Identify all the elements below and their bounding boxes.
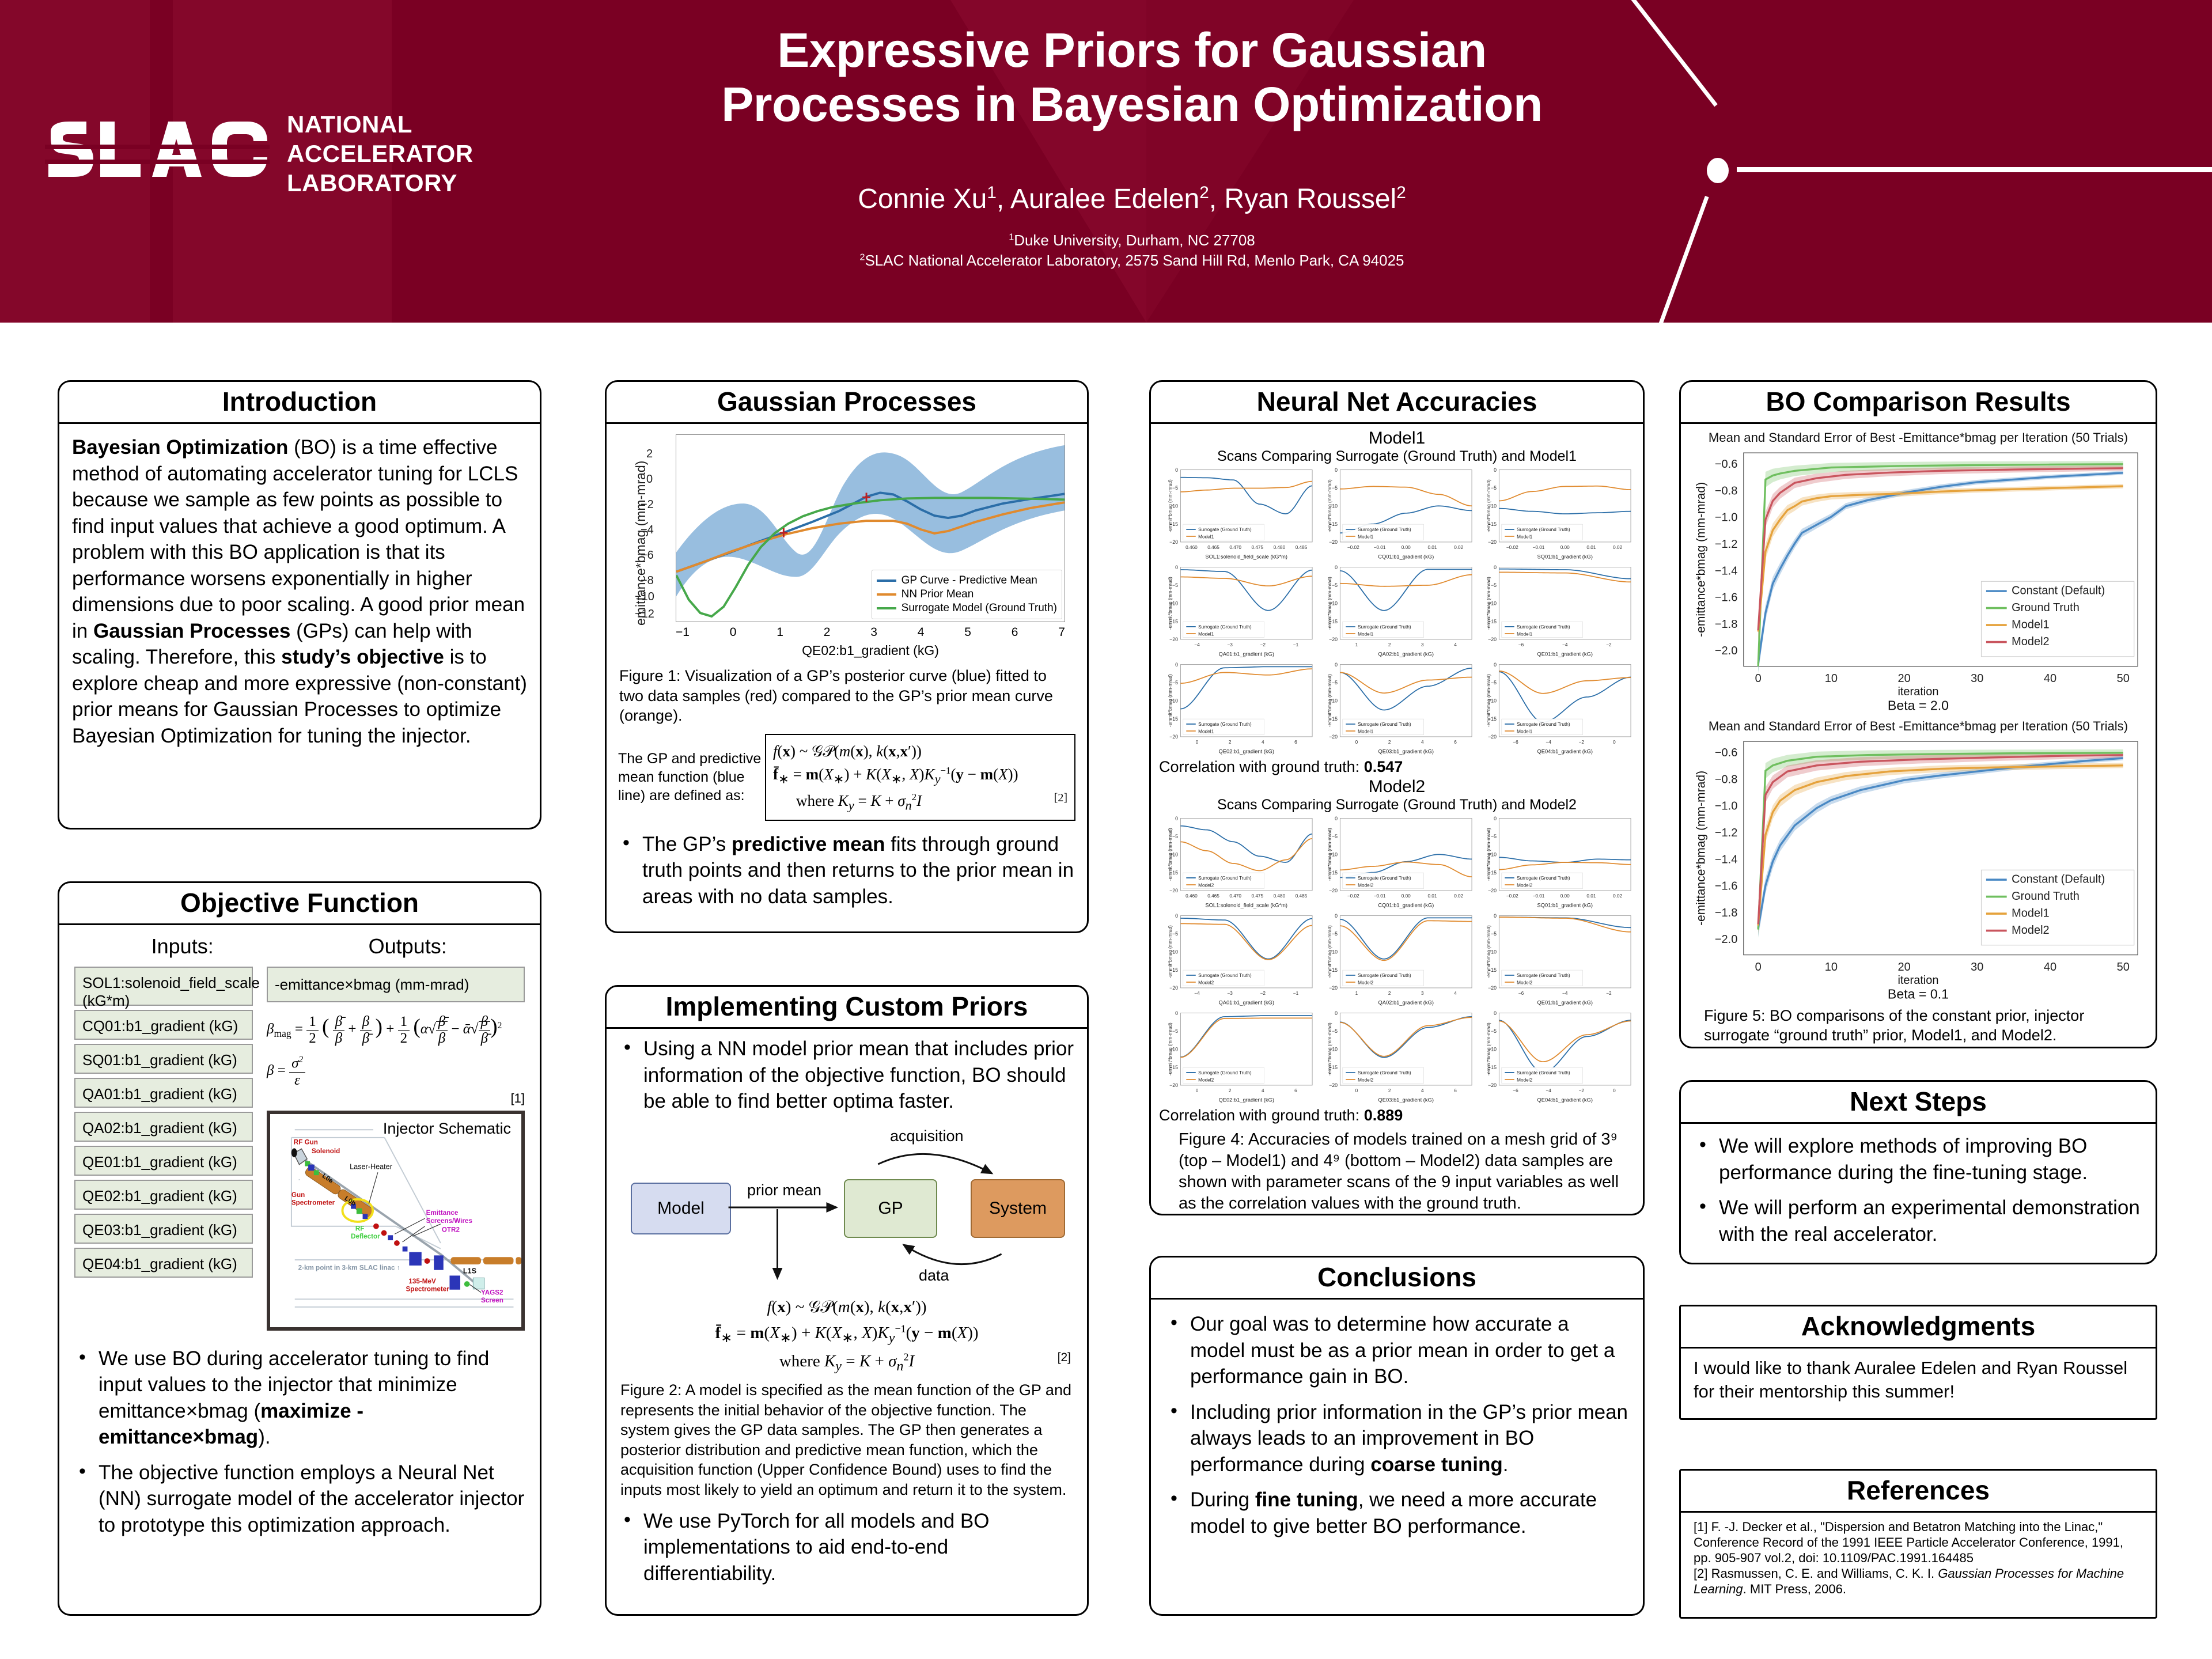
svg-text:Model1: Model1 xyxy=(1517,632,1532,637)
svg-text:Laser-Heater: Laser-Heater xyxy=(350,1162,392,1171)
cp-eq-line-3: where Ky = K + σn2I[2] xyxy=(619,1349,1074,1377)
svg-text:Ground Truth: Ground Truth xyxy=(2012,890,2080,903)
svg-text:-emmit*bmag (mm-mrad): -emmit*bmag (mm-mrad) xyxy=(1327,1022,1332,1075)
bullet-text: We will explore methods of improving BO … xyxy=(1719,1135,2088,1184)
svg-text:Model2: Model2 xyxy=(1198,882,1214,888)
corr-value: 0.889 xyxy=(1364,1107,1403,1124)
next-steps-bullets: We will explore methods of improving BO … xyxy=(1695,1133,2142,1247)
bullet-text: Our goal was to determine how accurate a… xyxy=(1190,1313,1615,1388)
svg-text:−1.4: −1.4 xyxy=(1715,853,1737,866)
fig1-xtick: 5 xyxy=(964,626,971,639)
model2-correlation: Correlation with ground truth: 0.889 xyxy=(1159,1107,1635,1124)
svg-text:Surrogate (Ground Truth): Surrogate (Ground Truth) xyxy=(1358,624,1411,630)
fig1-ytick: −10 xyxy=(635,590,654,604)
fig1-ytick: −6 xyxy=(641,549,654,562)
svg-text:−6: −6 xyxy=(1518,642,1524,647)
svg-text:0.485: 0.485 xyxy=(1296,893,1308,899)
svg-text:Model2: Model2 xyxy=(1358,882,1373,888)
svg-text:−2: −2 xyxy=(1579,740,1585,745)
svg-text:−4: −4 xyxy=(1546,1088,1552,1093)
svg-text:4: 4 xyxy=(1421,1088,1424,1093)
figure-5-caption: Figure 5: BO comparisons of the constant… xyxy=(1704,1006,2149,1046)
scan-subplot: 0−5−10−15−200.4600.4650.4700.4750.4800.4… xyxy=(1159,815,1316,910)
svg-text:−1.8: −1.8 xyxy=(1715,618,1737,631)
header-diagonal-line-bottom xyxy=(1654,196,1709,323)
svg-text:40: 40 xyxy=(2044,961,2056,974)
logo-line-national: NATIONAL xyxy=(287,109,474,139)
fig1-xtick: 4 xyxy=(918,626,925,639)
injector-schematic: Injector Schematic xyxy=(267,1111,525,1331)
svg-text:10: 10 xyxy=(1825,961,1838,974)
svg-text:0.01: 0.01 xyxy=(1427,545,1437,550)
svg-text:6: 6 xyxy=(1454,740,1457,745)
svg-text:−20: −20 xyxy=(1488,637,1497,642)
svg-text:0: 0 xyxy=(1355,1088,1358,1093)
svg-text:−0.6: −0.6 xyxy=(1715,747,1737,759)
svg-text:Model2: Model2 xyxy=(2012,635,2050,648)
legend-item: NN Prior Mean xyxy=(877,588,1057,601)
svg-text:Constant (Default): Constant (Default) xyxy=(2012,873,2105,885)
svg-text:Model1: Model1 xyxy=(1358,729,1373,734)
fig1-xtick: −1 xyxy=(676,626,690,639)
svg-text:20: 20 xyxy=(1897,961,1910,974)
model1-correlation: Correlation with ground truth: 0.547 xyxy=(1159,758,1635,776)
scan-subplot: 0−5−10−15−20−6−4−20 Surrogate (Ground Tr… xyxy=(1478,1009,1635,1104)
svg-text:1: 1 xyxy=(1355,991,1358,996)
svg-text:0.02: 0.02 xyxy=(1613,893,1622,899)
svg-text:0.00: 0.00 xyxy=(1401,893,1410,899)
output-row: -emittance×bmag (mm-mrad) xyxy=(267,967,525,1002)
svg-text:-emmit*bmag (mm-mrad): -emmit*bmag (mm-mrad) xyxy=(1168,828,1173,881)
svg-text:4: 4 xyxy=(1421,740,1424,745)
fig1-ytick: −8 xyxy=(641,574,654,588)
scan-subplot: 0−5−10−15−200246 Surrogate (Ground Truth… xyxy=(1319,661,1476,756)
fig1-x-axis-label: QE02:b1_gradient (kG) xyxy=(676,643,1065,658)
svg-text:Model2: Model2 xyxy=(1517,1077,1532,1082)
header-dot xyxy=(1707,158,1729,183)
svg-text:0: 0 xyxy=(1335,467,1338,473)
objective-bullets: We use BO during accelerator tuning to f… xyxy=(74,1346,525,1539)
svg-text:50: 50 xyxy=(2117,961,2130,974)
panel-next-steps: Next Steps We will explore methods of im… xyxy=(1679,1080,2157,1264)
svg-text:−6: −6 xyxy=(1518,991,1524,996)
figure-1-gp-chart: emittance*bmag (mm-mrad) 2 0 −2 −4 xyxy=(618,430,1075,660)
bullet-bold: coarse tuning xyxy=(1370,1453,1502,1476)
svg-text:-emmit*bmag (mm-mrad): -emmit*bmag (mm-mrad) xyxy=(1486,925,1491,978)
fig1-ytick: −4 xyxy=(641,524,654,537)
slac-logo-wordmark: NATIONAL ACCELERATOR LABORATORY xyxy=(287,109,474,198)
svg-text:Model1: Model1 xyxy=(1358,535,1373,540)
svg-text:QE02:b1_gradient (kG): QE02:b1_gradient (kG) xyxy=(1218,749,1274,755)
scan-subplot: 0−5−10−15−20−0.02−0.010.000.010.02 Surro… xyxy=(1478,815,1635,910)
svg-text:4: 4 xyxy=(1454,642,1457,647)
svg-text:−20: −20 xyxy=(1488,985,1497,991)
svg-text:−2: −2 xyxy=(1260,642,1266,647)
schematic-title: Injector Schematic xyxy=(383,1120,511,1138)
next-steps-title: Next Steps xyxy=(1681,1082,2156,1124)
svg-text:−4: −4 xyxy=(1194,642,1200,647)
inputs-header: Inputs: xyxy=(74,934,290,959)
svg-text:−5: −5 xyxy=(1332,834,1338,839)
figure-5-chart-beta2: Mean and Standard Error of Best -Emittan… xyxy=(1688,429,2149,714)
svg-text:QE04:b1_gradient (kG): QE04:b1_gradient (kG) xyxy=(1537,1097,1593,1103)
list-item: We will explore methods of improving BO … xyxy=(1695,1133,2142,1185)
logo-line-laboratory: LABORATORY xyxy=(287,168,474,198)
scan-subplot: 0−5−10−15−200246 Surrogate (Ground Truth… xyxy=(1159,1009,1316,1104)
svg-text:Model1: Model1 xyxy=(1517,535,1532,540)
svg-text:−5: −5 xyxy=(1172,486,1178,491)
scan-subplot: 0−5−10−15−20−0.02−0.010.000.010.02 Surro… xyxy=(1319,466,1476,561)
panel-gaussian-processes: Gaussian Processes emittance*bmag (mm-mr… xyxy=(605,380,1089,933)
scan-subplot: 0−5−10−15−200.4600.4650.4700.4750.4800.4… xyxy=(1159,466,1316,561)
bullet-text: The objective function employs a Neural … xyxy=(99,1461,524,1536)
svg-text:−0.01: −0.01 xyxy=(1533,545,1545,550)
svg-text:0.465: 0.465 xyxy=(1207,893,1219,899)
bullet-bold: fine tuning xyxy=(1255,1488,1358,1511)
svg-text:−20: −20 xyxy=(1169,734,1178,740)
svg-text:RF Gun: RF Gun xyxy=(294,1138,318,1146)
svg-text:Screen: Screen xyxy=(481,1297,503,1304)
list-item: Using a NN model prior mean that include… xyxy=(619,1036,1074,1115)
svg-text:2: 2 xyxy=(1388,740,1391,745)
slac-logo: NATIONAL ACCELERATOR LABORATORY xyxy=(45,109,474,198)
bullet-tail: ). xyxy=(258,1426,270,1448)
svg-text:2: 2 xyxy=(1388,991,1391,996)
svg-text:OTR2: OTR2 xyxy=(442,1226,460,1233)
svg-text:Surrogate (Ground Truth): Surrogate (Ground Truth) xyxy=(1198,528,1252,533)
svg-text:−4: −4 xyxy=(1562,991,1568,996)
fig1-ytick: −12 xyxy=(635,608,654,621)
svg-text:-emmit*bmag (mm-mrad): -emmit*bmag (mm-mrad) xyxy=(1486,674,1491,727)
svg-text:0.01: 0.01 xyxy=(1587,545,1596,550)
svg-text:6: 6 xyxy=(1294,740,1297,745)
svg-text:−20: −20 xyxy=(1329,637,1338,642)
svg-text:Screens/Wires: Screens/Wires xyxy=(426,1217,473,1225)
model2-scan-grid: 0−5−10−15−200.4600.4650.4700.4750.4800.4… xyxy=(1159,815,1635,1104)
svg-text:4: 4 xyxy=(1262,740,1264,745)
legend-label: GP Curve - Predictive Mean xyxy=(902,574,1037,587)
svg-text:Surrogate (Ground Truth): Surrogate (Ground Truth) xyxy=(1358,722,1411,727)
svg-text:−0.02: −0.02 xyxy=(1506,545,1518,550)
bullet-text: We will perform an experimental demonstr… xyxy=(1719,1196,2140,1245)
cp-eq-ref: [2] xyxy=(1058,1349,1071,1368)
svg-text:−5: −5 xyxy=(1491,582,1497,588)
custom-priors-equations: f(x) ~ 𝒢𝒫(m(x), k(x,x′)) f̄∗ = m(X∗) + K… xyxy=(619,1294,1074,1377)
bullet-text: The GP’s xyxy=(642,833,732,855)
fig1-xtick: 6 xyxy=(1012,626,1018,639)
svg-text:QE01:b1_gradient (kG): QE01:b1_gradient (kG) xyxy=(1537,999,1593,1005)
scan-subplot: 0−5−10−15−200246 Surrogate (Ground Truth… xyxy=(1319,1009,1476,1104)
figure-2-caption: Figure 2: A model is specified as the me… xyxy=(620,1380,1073,1499)
svg-text:QA01:b1_gradient (kG): QA01:b1_gradient (kG) xyxy=(1218,999,1274,1005)
svg-text:2: 2 xyxy=(1229,1088,1232,1093)
svg-text:-emittance*bmag (mm-mrad): -emittance*bmag (mm-mrad) xyxy=(1694,482,1707,637)
svg-text:−1.2: −1.2 xyxy=(1715,538,1737,551)
legend-label: Surrogate Model (Ground Truth) xyxy=(902,602,1057,615)
svg-text:0.01: 0.01 xyxy=(1587,893,1596,899)
svg-text:SOL1:solenoid_field_scale (kG*: SOL1:solenoid_field_scale (kG*m) xyxy=(1205,554,1287,560)
svg-text:−1: −1 xyxy=(1293,642,1299,647)
input-label: QE04:b1_gradient (kG) xyxy=(82,1255,237,1272)
legend-swatch xyxy=(877,607,896,609)
svg-text:−5: −5 xyxy=(1172,834,1178,839)
svg-text:-emmit*bmag (mm-mrad): -emmit*bmag (mm-mrad) xyxy=(1486,577,1491,630)
affiliation-2: 2SLAC National Accelerator Laboratory, 2… xyxy=(605,251,1659,271)
scan-subplot: 0−5−10−15−20−0.02−0.010.000.010.02 Surro… xyxy=(1478,466,1635,561)
svg-text:-emmit*bmag (mm-mrad): -emmit*bmag (mm-mrad) xyxy=(1168,1022,1173,1075)
svg-text:−5: −5 xyxy=(1332,486,1338,491)
scan-subplot: 0−5−10−15−201234 Surrogate (Ground Truth… xyxy=(1319,912,1476,1007)
svg-text:−0.02: −0.02 xyxy=(1506,893,1518,899)
scan-subplot: 0−5−10−15−20−4−3−2−1 Surrogate (Ground T… xyxy=(1159,563,1316,658)
introduction-title: Introduction xyxy=(59,382,540,424)
svg-text:Surrogate (Ground Truth): Surrogate (Ground Truth) xyxy=(1517,624,1570,630)
svg-text:−20: −20 xyxy=(1169,540,1178,546)
figure-5-chart-beta01: Mean and Standard Error of Best -Emittan… xyxy=(1688,717,2149,1002)
panel-conclusions: Conclusions Our goal was to determine ho… xyxy=(1149,1256,1645,1616)
svg-text:0.470: 0.470 xyxy=(1229,545,1241,550)
svg-text:−2: −2 xyxy=(1260,991,1266,996)
fig1-legend: GP Curve - Predictive Mean NN Prior Mean… xyxy=(872,570,1062,619)
svg-text:−0.6: −0.6 xyxy=(1715,458,1737,471)
panel-introduction: Introduction Bayesian Optimization (BO) … xyxy=(58,380,541,829)
svg-text:2-km point in 3-km SLAC linac: 2-km point in 3-km SLAC linac ↑ xyxy=(298,1264,400,1271)
svg-text:L1S: L1S xyxy=(463,1267,476,1275)
svg-text:10: 10 xyxy=(1825,672,1838,685)
svg-text:−0.8: −0.8 xyxy=(1715,485,1737,498)
svg-text:−4: −4 xyxy=(1562,642,1568,647)
svg-text:−1.8: −1.8 xyxy=(1715,907,1737,919)
input-row: QE01:b1_gradient (kG) xyxy=(74,1146,253,1176)
panel-objective-function: Objective Function Inputs: Outputs: SOL1… xyxy=(58,881,541,1616)
cp-eq-line-1: f(x) ~ 𝒢𝒫(m(x), k(x,x′)) xyxy=(619,1294,1074,1320)
svg-text:CQ01:b1_gradient (kG): CQ01:b1_gradient (kG) xyxy=(1378,554,1434,560)
svg-text:Beta = 2.0: Beta = 2.0 xyxy=(1888,698,1949,713)
svg-text:−4: −4 xyxy=(1194,991,1200,996)
header-horizontal-line xyxy=(1737,167,2212,172)
svg-text:Emittance: Emittance xyxy=(426,1209,459,1217)
svg-text:0: 0 xyxy=(1175,565,1178,570)
page-title: Expressive Priors for Gaussian Processes… xyxy=(605,23,1659,131)
svg-text:−5: −5 xyxy=(1491,1028,1497,1034)
svg-text:−1: −1 xyxy=(1293,991,1299,996)
svg-text:0.00: 0.00 xyxy=(1401,545,1410,550)
svg-text:SQ01:b1_gradient (kG): SQ01:b1_gradient (kG) xyxy=(1537,554,1593,560)
logo-line-accelerator: ACCELERATOR xyxy=(287,139,474,168)
svg-text:−20: −20 xyxy=(1169,1082,1178,1088)
svg-text:0: 0 xyxy=(1494,1010,1497,1016)
svg-text:−5: −5 xyxy=(1332,931,1338,937)
svg-text:-emmit*bmag (mm-mrad): -emmit*bmag (mm-mrad) xyxy=(1327,577,1332,630)
svg-text:Surrogate (Ground Truth): Surrogate (Ground Truth) xyxy=(1517,1070,1570,1075)
svg-text:−20: −20 xyxy=(1329,888,1338,893)
bo-results-title: BO Comparison Results xyxy=(1681,382,2156,424)
svg-text:−2: −2 xyxy=(1607,642,1612,647)
input-label: QA02:b1_gradient (kG) xyxy=(82,1119,237,1137)
fig1-xtick: 7 xyxy=(1058,626,1065,639)
svg-text:−3: −3 xyxy=(1227,991,1233,996)
svg-text:−0.02: −0.02 xyxy=(1347,545,1359,550)
svg-text:−5: −5 xyxy=(1491,931,1497,937)
model1-title: Model1 xyxy=(1159,429,1635,448)
svg-text:-emmit*bmag (mm-mrad): -emmit*bmag (mm-mrad) xyxy=(1327,479,1332,532)
svg-text:Model1: Model1 xyxy=(1198,729,1214,734)
svg-text:0.465: 0.465 xyxy=(1207,545,1219,550)
bullet-text: Using a NN model prior mean that include… xyxy=(643,1037,1074,1112)
svg-text:0: 0 xyxy=(1175,467,1178,473)
list-item: We use PyTorch for all models and BO imp… xyxy=(619,1508,1074,1587)
svg-text:Surrogate (Ground Truth): Surrogate (Ground Truth) xyxy=(1517,528,1570,533)
svg-text:0: 0 xyxy=(1494,913,1497,919)
svg-text:QA02:b1_gradient (kG): QA02:b1_gradient (kG) xyxy=(1378,1000,1433,1006)
svg-text:-emittance*bmag (mm-mrad): -emittance*bmag (mm-mrad) xyxy=(1694,771,1707,926)
model1-subtitle: Scans Comparing Surrogate (Ground Truth)… xyxy=(1159,448,1635,465)
svg-text:0: 0 xyxy=(1335,816,1338,821)
reference-1: [1] F. -J. Decker et al., "Dispersion an… xyxy=(1694,1520,2143,1566)
input-row: SOL1:solenoid_field_scale (kG*m) xyxy=(74,967,253,1006)
gaussian-processes-title: Gaussian Processes xyxy=(607,382,1087,424)
svg-text:0.480: 0.480 xyxy=(1274,893,1286,899)
svg-text:−1.4: −1.4 xyxy=(1715,565,1737,578)
fig1-plot-frame: 2 0 −2 −4 −6 −8 −10 −12 GP Curve - Predi… xyxy=(676,434,1065,622)
model2-subtitle: Scans Comparing Surrogate (Ground Truth)… xyxy=(1159,797,1635,813)
svg-text:0: 0 xyxy=(1494,467,1497,473)
inputs-table: SOL1:solenoid_field_scale (kG*m) CQ01:b1… xyxy=(74,967,253,1330)
svg-text:0.01: 0.01 xyxy=(1427,893,1437,899)
svg-text:Model1: Model1 xyxy=(1358,632,1373,637)
input-row: CQ01:b1_gradient (kG) xyxy=(74,1010,253,1040)
svg-text:−4: −4 xyxy=(1546,740,1552,745)
gp-eq-line-2: f̄∗ = m(X∗) + K(X∗, X)Ky−1(y − m(X)) xyxy=(773,763,1067,789)
title-line-1: Expressive Priors for Gaussian xyxy=(605,23,1659,77)
svg-text:Model2: Model2 xyxy=(1358,980,1373,985)
svg-text:Model2: Model2 xyxy=(1198,1077,1214,1082)
figure-1-caption: Figure 1: Visualization of a GP’s poster… xyxy=(619,666,1074,726)
svg-text:Gun: Gun xyxy=(291,1191,305,1199)
svg-text:Mean and Standard Error of Bes: Mean and Standard Error of Best -Emittan… xyxy=(1709,719,2128,733)
svg-text:Surrogate (Ground Truth): Surrogate (Ground Truth) xyxy=(1517,973,1570,978)
svg-text:0: 0 xyxy=(1196,1088,1199,1093)
fig1-ytick: −2 xyxy=(641,498,654,512)
svg-text:Spectrometer: Spectrometer xyxy=(291,1199,335,1206)
slac-logo-mark xyxy=(45,119,270,188)
panel-bo-comparison-results: BO Comparison Results Mean and Standard … xyxy=(1679,380,2157,1048)
svg-text:-emmit*bmag (mm-mrad): -emmit*bmag (mm-mrad) xyxy=(1327,828,1332,881)
svg-text:Surrogate (Ground Truth): Surrogate (Ground Truth) xyxy=(1358,1070,1411,1075)
svg-text:0.02: 0.02 xyxy=(1613,545,1622,550)
svg-text:−20: −20 xyxy=(1329,985,1338,991)
scan-subplot: 0−5−10−15−201234 Surrogate (Ground Truth… xyxy=(1319,563,1476,658)
svg-text:-emmit*bmag (mm-mrad): -emmit*bmag (mm-mrad) xyxy=(1486,479,1491,532)
svg-text:Surrogate (Ground Truth): Surrogate (Ground Truth) xyxy=(1358,876,1411,881)
acknowledgments-body: I would like to thank Auralee Edelen and… xyxy=(1694,1357,2143,1403)
svg-text:Constant (Default): Constant (Default) xyxy=(2012,585,2105,597)
poster-header: NATIONAL ACCELERATOR LABORATORY Expressi… xyxy=(0,0,2212,323)
svg-text:Mean and Standard Error of Bes: Mean and Standard Error of Best -Emittan… xyxy=(1709,430,2128,445)
svg-text:−5: −5 xyxy=(1172,931,1178,937)
acknowledgments-title: Acknowledgments xyxy=(1681,1306,2156,1349)
input-label: QA01:b1_gradient (kG) xyxy=(82,1085,237,1103)
svg-text:0.485: 0.485 xyxy=(1296,545,1308,550)
svg-text:0: 0 xyxy=(1755,961,1762,974)
svg-text:Surrogate (Ground Truth): Surrogate (Ground Truth) xyxy=(1198,1070,1252,1075)
svg-text:0: 0 xyxy=(1335,1010,1338,1016)
svg-text:−20: −20 xyxy=(1488,540,1497,546)
svg-text:YAGS2: YAGS2 xyxy=(481,1289,503,1296)
svg-text:−20: −20 xyxy=(1329,1082,1338,1088)
panel-neural-net-accuracies: Neural Net Accuracies Model1 Scans Compa… xyxy=(1149,380,1645,1215)
svg-text:0.460: 0.460 xyxy=(1185,545,1198,550)
svg-text:3: 3 xyxy=(1421,991,1424,996)
svg-text:−20: −20 xyxy=(1329,540,1338,546)
svg-text:Surrogate (Ground Truth): Surrogate (Ground Truth) xyxy=(1198,973,1252,978)
svg-text:Surrogate (Ground Truth): Surrogate (Ground Truth) xyxy=(1198,722,1252,727)
svg-text:−20: −20 xyxy=(1488,1082,1497,1088)
svg-text:−20: −20 xyxy=(1329,734,1338,740)
svg-text:40: 40 xyxy=(2044,672,2056,685)
svg-text:Surrogate (Ground Truth): Surrogate (Ground Truth) xyxy=(1517,722,1570,727)
input-row: QE03:b1_gradient (kG) xyxy=(74,1214,253,1244)
svg-text:−5: −5 xyxy=(1172,1028,1178,1034)
model1-scan-grid: 0−5−10−15−200.4600.4650.4700.4750.4800.4… xyxy=(1159,466,1635,756)
references-title: References xyxy=(1681,1471,2156,1513)
svg-text:Surrogate (Ground Truth): Surrogate (Ground Truth) xyxy=(1358,528,1411,533)
svg-text:Surrogate (Ground Truth): Surrogate (Ground Truth) xyxy=(1517,876,1570,881)
svg-text:−5: −5 xyxy=(1332,1028,1338,1034)
scan-subplot: 0−5−10−15−20−6−4−20 Surrogate (Ground Tr… xyxy=(1478,661,1635,756)
affiliation-1: 1Duke University, Durham, NC 27708 xyxy=(605,230,1659,251)
bullet-text: During xyxy=(1190,1488,1255,1511)
intro-text-2: (BO) is a time effective method of autom… xyxy=(72,436,525,642)
svg-text:30: 30 xyxy=(1971,961,1983,974)
svg-text:0.475: 0.475 xyxy=(1251,545,1263,550)
svg-text:QE01:b1_gradient (kG): QE01:b1_gradient (kG) xyxy=(1537,652,1593,657)
svg-text:−1.0: −1.0 xyxy=(1715,800,1737,813)
svg-text:−6: −6 xyxy=(1513,1088,1519,1093)
input-label: QE03:b1_gradient (kG) xyxy=(82,1221,237,1238)
svg-text:0: 0 xyxy=(1175,662,1178,668)
gp-eq-line-3: where Ky = K + σn2I[2] xyxy=(773,789,1067,815)
svg-text:Model1: Model1 xyxy=(1198,535,1214,540)
svg-text:0: 0 xyxy=(1196,740,1199,745)
svg-text:0.460: 0.460 xyxy=(1185,893,1198,899)
svg-text:-emmit*bmag (mm-mrad): -emmit*bmag (mm-mrad) xyxy=(1327,674,1332,727)
svg-text:−5: −5 xyxy=(1172,680,1178,685)
svg-text:−0.01: −0.01 xyxy=(1373,545,1385,550)
svg-text:−5: −5 xyxy=(1491,834,1497,839)
input-row: QE02:b1_gradient (kG) xyxy=(74,1180,253,1210)
svg-text:−1.6: −1.6 xyxy=(1715,592,1737,604)
svg-text:Surrogate (Ground Truth): Surrogate (Ground Truth) xyxy=(1198,624,1252,630)
svg-text:Ground Truth: Ground Truth xyxy=(2012,601,2080,614)
conclusions-bullets: Our goal was to determine how accurate a… xyxy=(1166,1311,1628,1539)
svg-text:−1.2: −1.2 xyxy=(1715,827,1737,839)
bullet-bold: predictive mean xyxy=(732,833,885,855)
title-line-2: Processes in Bayesian Optimization xyxy=(605,77,1659,131)
list-item: Our goal was to determine how accurate a… xyxy=(1166,1311,1628,1390)
svg-text:0: 0 xyxy=(1175,1010,1178,1016)
corr-value: 0.547 xyxy=(1364,758,1403,775)
bullet-text: We use PyTorch for all models and BO imp… xyxy=(643,1510,989,1585)
svg-text:0.470: 0.470 xyxy=(1229,893,1241,899)
svg-text:Model2: Model2 xyxy=(1517,980,1532,985)
beta-equation: β = σ2ε xyxy=(267,1055,525,1088)
bo-loop-diagram: Model GP System prior mean acquisition d… xyxy=(619,1124,1074,1297)
svg-text:iteration: iteration xyxy=(1897,974,1938,987)
gp-eq-line-1: f(x) ~ 𝒢𝒫(m(x), k(x,x′)) xyxy=(773,740,1067,763)
fig1-x-ticks: −101234567 xyxy=(676,626,1065,639)
svg-text:-emmit*bmag (mm-mrad): -emmit*bmag (mm-mrad) xyxy=(1168,674,1173,727)
